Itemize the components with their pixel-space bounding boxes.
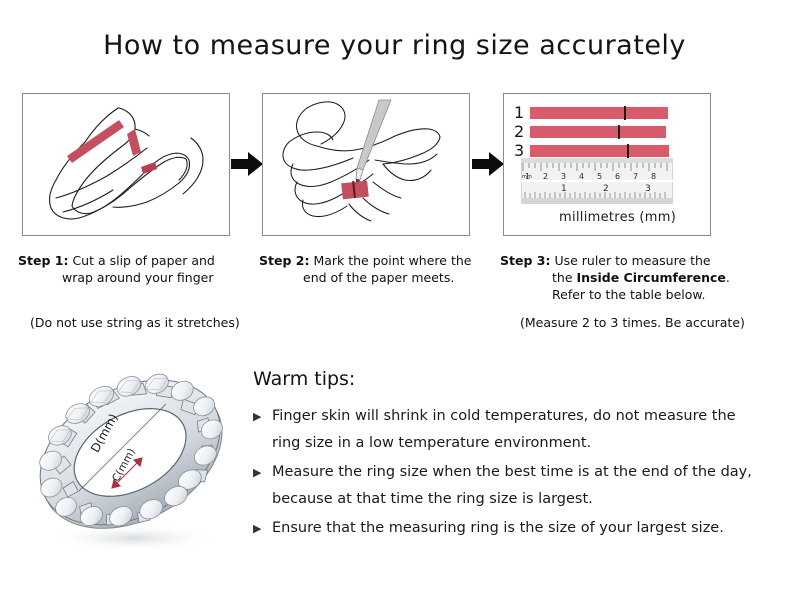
step-2-label: Step 2:: [259, 253, 309, 268]
svg-text:2: 2: [603, 184, 609, 194]
inside-circumference-emphasis: Inside Circumference: [577, 270, 726, 285]
step-2-line-1: Mark the point where the: [313, 253, 471, 268]
page-title: How to measure your ring size accurately: [0, 30, 789, 61]
triangle-bullet-icon: ▶: [253, 515, 261, 542]
warm-tip-item: ▶ Measure the ring size when the best ti…: [253, 459, 753, 513]
step-1-note: (Do not use string as it stretches): [30, 315, 240, 330]
warm-tip-text: Ensure that the measuring ring is the si…: [272, 520, 724, 536]
strip-mark-3: [627, 144, 629, 158]
ring-diagram: D(mm) C(mm): [16, 352, 250, 566]
measured-strip-row-2: 2: [514, 125, 666, 138]
step-3-line-2: the Inside Circumference.: [500, 269, 750, 286]
step-3-note: (Measure 2 to 3 times. Be accurate): [520, 315, 745, 330]
step-1-illustration-panel: [22, 93, 230, 236]
arrow-step1-to-step2: [230, 149, 264, 179]
warm-tip-text: Finger skin will shrink in cold temperat…: [272, 408, 736, 451]
pen-tool: [356, 100, 391, 186]
strip-number-2: 2: [514, 125, 530, 138]
paper-strip-1: [530, 107, 668, 119]
step-3-line-2-post: .: [726, 270, 730, 285]
arrow-step2-to-step3: [471, 149, 505, 179]
step-3-label: Step 3:: [500, 253, 550, 268]
measured-strip-row-3: 3: [514, 144, 669, 157]
paper-strip-2: [530, 126, 666, 138]
strip-mark-1: [624, 106, 626, 120]
step-3-caption: Step 3: Use ruler to measure the the Ins…: [500, 252, 750, 303]
step-1-label: Step 1:: [18, 253, 68, 268]
warm-tip-item: ▶ Ensure that the measuring ring is the …: [253, 515, 753, 542]
step-2-line-2: end of the paper meets.: [259, 269, 494, 286]
hand-with-paper-strip-drawing: [23, 94, 229, 235]
warm-tips-list: ▶ Finger skin will shrink in cold temper…: [253, 403, 753, 544]
strip-number-3: 3: [514, 144, 530, 157]
triangle-bullet-icon: ▶: [253, 403, 261, 430]
step-1-line-1: Cut a slip of paper and: [72, 253, 214, 268]
paper-strip-red-marked: [341, 181, 369, 200]
strip-mark-2: [618, 125, 620, 139]
step-3-illustration-panel: 1 2 3: [503, 93, 711, 236]
svg-text:2: 2: [543, 172, 548, 181]
measured-strip-row-1: 1: [514, 106, 668, 119]
triangle-bullet-icon: ▶: [253, 459, 261, 486]
step-1-caption: Step 1: Cut a slip of paper and wrap aro…: [18, 252, 248, 286]
svg-text:mm: mm: [522, 174, 532, 180]
hand-marking-paper-drawing: [263, 94, 469, 235]
step-2-illustration-panel: [262, 93, 470, 236]
warm-tip-text: Measure the ring size when the best time…: [272, 464, 752, 507]
warm-tip-item: ▶ Finger skin will shrink in cold temper…: [253, 403, 753, 457]
step-3-line-1: Use ruler to measure the: [554, 253, 710, 268]
svg-text:5: 5: [597, 172, 602, 181]
ruler-graphic: 123 456 78 mm 123: [521, 158, 673, 204]
strip-number-1: 1: [514, 106, 530, 119]
svg-text:7: 7: [633, 172, 638, 181]
paper-strip-3: [530, 145, 669, 157]
step-2-caption: Step 2: Mark the point where the end of …: [259, 252, 494, 286]
svg-text:8: 8: [651, 172, 656, 181]
paper-strip-red: [67, 120, 157, 174]
step-1-line-2: wrap around your finger: [18, 269, 248, 286]
svg-text:4: 4: [579, 172, 584, 181]
ruler-unit-caption: millimetres (mm): [559, 210, 676, 225]
steps-row: 1 2 3: [0, 93, 789, 238]
svg-text:6: 6: [615, 172, 620, 181]
warm-tips-heading: Warm tips:: [253, 368, 355, 390]
svg-text:3: 3: [561, 172, 566, 181]
svg-text:3: 3: [645, 184, 651, 194]
step-3-line-2-pre: the: [552, 270, 577, 285]
svg-text:1: 1: [561, 184, 567, 194]
step-3-line-3: Refer to the table below.: [500, 286, 750, 303]
